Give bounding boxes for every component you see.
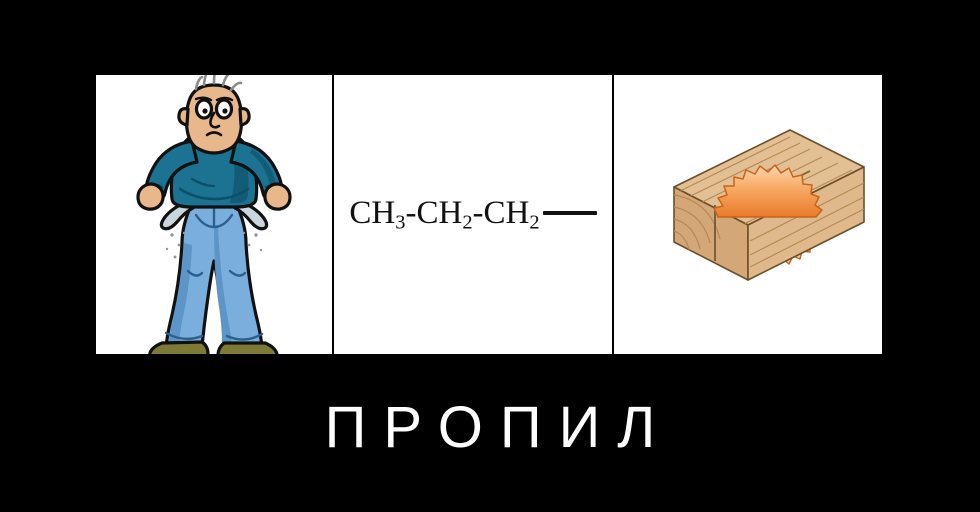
formula-segment-ch2a: -CH [405,195,462,231]
formula-segment-ch2b: -CH [473,195,530,231]
meme-caption: ПРОПИЛ [0,392,980,464]
free-bond-line [543,211,597,215]
formula-wrapper: CH3-CH2-CH2 [334,75,612,354]
formula-subscript-3: 3 [395,211,405,233]
formula-subscript-2b: 2 [529,211,539,233]
panel-saw-beam [612,75,882,354]
poor-man-illustration [96,75,332,354]
meme-image: CH3-CH2-CH2 [0,0,980,512]
panel-formula: CH3-CH2-CH2 [332,75,612,354]
panel-poor-man [96,75,332,354]
chemical-formula: CH3-CH2-CH2 [349,195,596,235]
formula-subscript-2a: 2 [462,211,472,233]
panel-strip: CH3-CH2-CH2 [96,75,882,354]
formula-segment-ch3a: CH [349,195,395,231]
beam-saw-illustration [614,75,882,354]
